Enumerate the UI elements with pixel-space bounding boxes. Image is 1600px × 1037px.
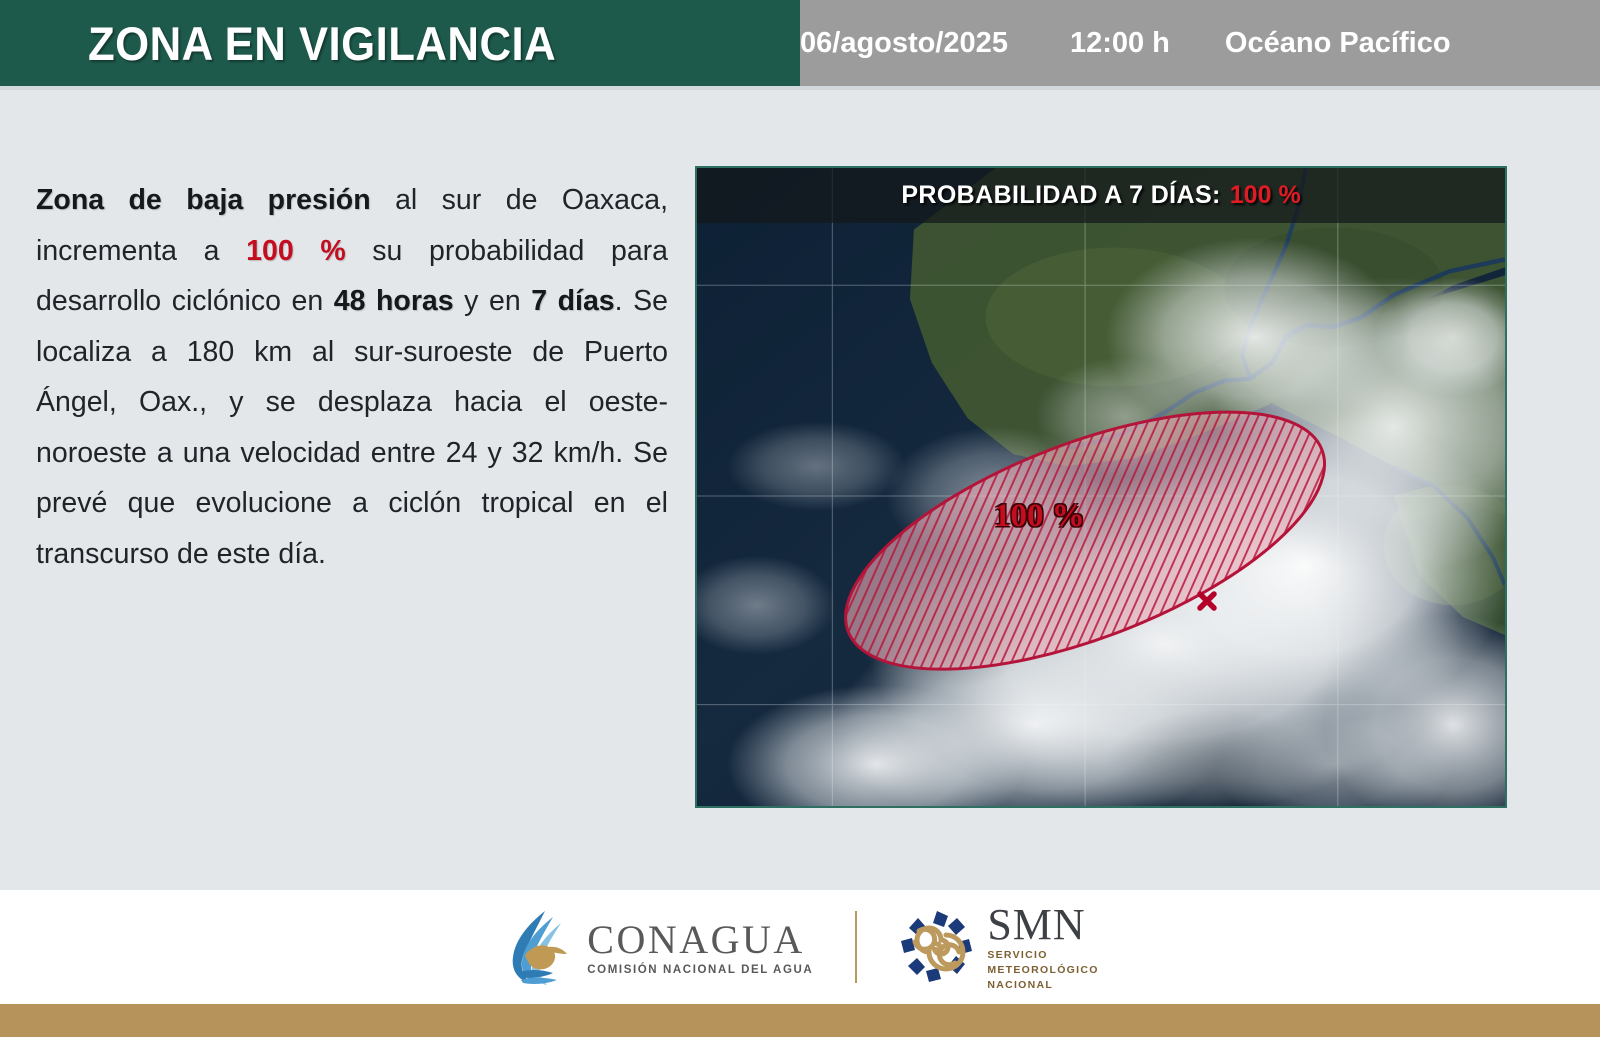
smn-subtitle-line2: METEOROLÓGICO xyxy=(987,964,1098,977)
bulletin-text-3: y en xyxy=(454,285,532,317)
probability-cone xyxy=(697,168,1505,806)
smn-name: SMN xyxy=(987,903,1098,947)
conagua-wordmark: CONAGUA COMISIÓN NACIONAL DEL AGUA xyxy=(587,919,813,976)
smn-subtitle-line1: SERVICIO xyxy=(987,949,1098,962)
smn-subtitle-line3: NACIONAL xyxy=(987,979,1098,992)
bulletin-text: Zona de baja presión al sur de Oaxaca, i… xyxy=(36,175,668,579)
bulletin-date: 06/agosto/2025 xyxy=(800,27,1008,60)
smn-logo: SMN SERVICIO METEOROLÓGICO NACIONAL xyxy=(899,903,1098,992)
smn-spiral-icon xyxy=(899,909,975,985)
conagua-name: CONAGUA xyxy=(587,919,813,961)
bottom-accent-bar xyxy=(0,1004,1600,1037)
page-title: ZONA EN VIGILANCIA xyxy=(88,16,556,71)
bulletin-probability-inline: 100 % xyxy=(246,235,346,267)
bulletin-text-4: . Se localiza a 180 km al sur-suroeste d… xyxy=(36,285,668,570)
logo-divider xyxy=(855,911,857,983)
cone-probability-label: 100 % xyxy=(994,498,1085,535)
page-footer: CONAGUA COMISIÓN NACIONAL DEL AGUA xyxy=(0,890,1600,1004)
bulletin-time: 12:00 h xyxy=(1070,27,1170,60)
bulletin-lead-bold: Zona de baja presión xyxy=(36,184,371,216)
conagua-subtitle: COMISIÓN NACIONAL DEL AGUA xyxy=(587,964,813,976)
map-title-banner: PROBABILIDAD A 7 DÍAS: 100 % xyxy=(697,168,1505,223)
page-header: ZONA EN VIGILANCIA 06/agosto/2025 12:00 … xyxy=(0,0,1600,86)
header-meta-band: 06/agosto/2025 12:00 h Océano Pacífico xyxy=(800,0,1600,86)
bulletin-window-48h: 48 horas xyxy=(334,285,454,317)
probability-value: 100 % xyxy=(1230,181,1301,210)
probability-label: PROBABILIDAD A 7 DÍAS: xyxy=(901,181,1220,210)
x-marker-icon xyxy=(1195,589,1219,613)
header-title-band: ZONA EN VIGILANCIA xyxy=(0,0,800,86)
bulletin-basin: Océano Pacífico xyxy=(1225,27,1451,60)
bulletin-window-7d: 7 días xyxy=(531,285,614,317)
satellite-map[interactable]: PROBABILIDAD A 7 DÍAS: 100 % 100 % xyxy=(695,166,1507,808)
smn-wordmark: SMN SERVICIO METEOROLÓGICO NACIONAL xyxy=(987,903,1098,992)
agency-logos: CONAGUA COMISIÓN NACIONAL DEL AGUA xyxy=(501,903,1098,992)
conagua-water-drop-icon xyxy=(501,907,573,987)
conagua-logo: CONAGUA COMISIÓN NACIONAL DEL AGUA xyxy=(501,907,813,987)
